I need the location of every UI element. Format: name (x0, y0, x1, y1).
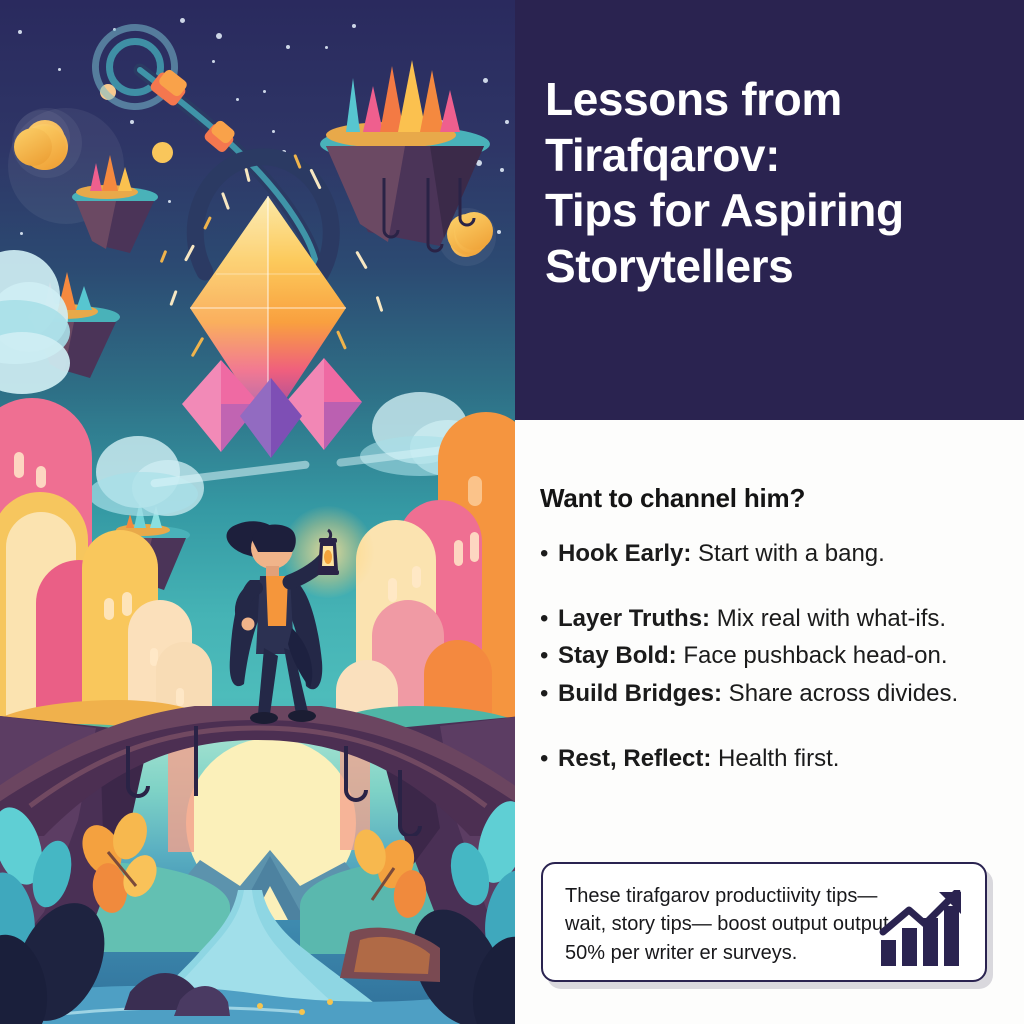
lantern-icon (310, 528, 346, 584)
list-item-label: Stay Bold: (558, 642, 677, 669)
list-item-body: Share across divides. (722, 680, 958, 707)
building-window (176, 688, 184, 706)
bullet-marker-icon: • (540, 743, 558, 774)
title-line-4: Storytellers (545, 239, 1015, 295)
list-item-text: Rest, Reflect: Health first. (558, 743, 1010, 774)
list-item: • Layer Truths: Mix real with what-ifs. (540, 603, 1010, 634)
list-item: • Build Bridges: Share across divides. (540, 678, 1010, 709)
floating-island-left-small (72, 155, 158, 251)
list-item-text: Layer Truths: Mix real with what-ifs. (558, 603, 1010, 634)
page-title: Lessons from Tirafqarov: Tips for Aspiri… (545, 72, 1015, 295)
list-item-body: Face pushback head-on. (677, 642, 948, 669)
building-window (36, 466, 46, 488)
list-item-text: Stay Bold: Face pushback head-on. (558, 640, 1010, 671)
tips-list: • Hook Early: Start with a bang. • Layer… (540, 538, 1010, 774)
section-subheading: Want to channel him? (540, 483, 805, 514)
title-line-2: Tirafqarov: (545, 128, 1015, 184)
list-item-text: Hook Early: Start with a bang. (558, 538, 1010, 569)
bar-chart-growth-arrow-icon (879, 890, 971, 968)
statistic-callout-box: These tirafgarov productiivity tips—wait… (541, 862, 987, 982)
building-window (470, 532, 479, 562)
building-window (468, 476, 482, 506)
building-window (388, 578, 397, 602)
title-header: Lessons from Tirafqarov: Tips for Aspiri… (515, 0, 1024, 420)
list-item-label: Rest, Reflect: (558, 745, 711, 772)
purple-crystal-center (236, 378, 306, 458)
list-item-label: Build Bridges: (558, 680, 722, 707)
bullet-marker-icon: • (540, 603, 558, 634)
title-line-3: Tips for Aspiring (545, 183, 1015, 239)
building-window (122, 592, 132, 616)
list-item-label: Hook Early: (558, 540, 691, 567)
list-item: • Stay Bold: Face pushback head-on. (540, 640, 1010, 671)
list-item-text: Build Bridges: Share across divides. (558, 678, 1010, 709)
bullet-marker-icon: • (540, 678, 558, 709)
list-item: • Rest, Reflect: Health first. (540, 743, 1010, 774)
list-item-body: Health first. (711, 745, 839, 772)
title-line-1: Lessons from (545, 72, 1015, 128)
floating-island-top-right (320, 60, 490, 245)
list-gap (540, 569, 1010, 603)
illustration-panel (0, 0, 515, 1024)
callout-text: These tirafgarov productiivity tips—wait… (565, 882, 910, 967)
list-item-body: Start with a bang. (691, 540, 884, 567)
building-window (104, 598, 114, 620)
building-window (14, 452, 24, 478)
list-item: • Hook Early: Start with a bang. (540, 538, 1010, 569)
bullet-marker-icon: • (540, 640, 558, 671)
building-window (412, 566, 421, 588)
river-rocks (120, 940, 400, 1024)
list-gap (540, 709, 1010, 743)
building-window (454, 540, 463, 566)
infographic-poster: Lessons from Tirafqarov: Tips for Aspiri… (0, 0, 1024, 1024)
list-item-label: Layer Truths: (558, 605, 710, 632)
bullet-marker-icon: • (540, 538, 558, 569)
list-item-body: Mix real with what-ifs. (710, 605, 946, 632)
